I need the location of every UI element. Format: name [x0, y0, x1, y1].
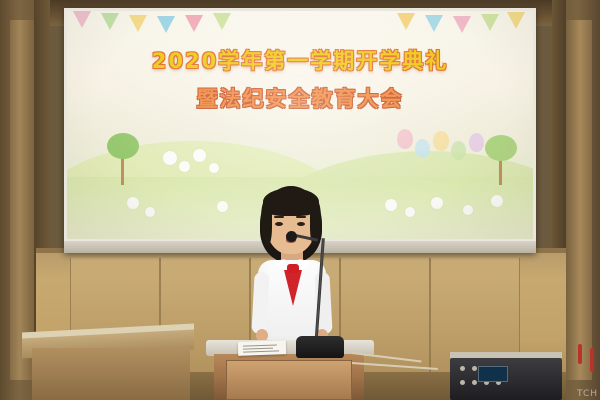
eye-left: [275, 222, 283, 226]
eyebrow-right: [296, 216, 306, 218]
decor-balloon: [469, 133, 484, 152]
decor-flower: [127, 197, 139, 209]
decor-flower: [193, 149, 206, 162]
red-cable: [590, 348, 594, 372]
decor-tree-leaves: [485, 135, 517, 161]
wall-panel-left: [10, 20, 34, 380]
side-table-body: [32, 348, 190, 400]
photo-scene: 2020学年第一学期开学典礼 暨法纪安全教育大会: [0, 0, 600, 400]
decor-flower: [217, 201, 228, 212]
decor-balloon: [433, 131, 449, 151]
screen-title-line-2: 暨法纪安全教育大会: [67, 83, 533, 113]
red-cable: [578, 344, 582, 364]
decor-flower: [163, 151, 177, 165]
decor-flower: [405, 207, 415, 217]
red-scarf: [284, 270, 302, 306]
podium-front-panel: [226, 360, 352, 400]
decor-flower: [385, 199, 397, 211]
microphone-base: [296, 336, 344, 358]
decor-balloon: [415, 139, 430, 158]
decor-tree-leaves: [107, 133, 139, 159]
speech-notes: [238, 340, 286, 356]
decor-flower: [145, 207, 155, 217]
decor-flower: [431, 197, 443, 209]
eyebrow-left: [274, 216, 284, 218]
wall-panel-right: [566, 20, 592, 380]
decor-balloon: [451, 141, 466, 160]
decor-balloon: [397, 129, 413, 149]
decor-flower: [179, 161, 190, 172]
decor-flower: [209, 163, 219, 173]
watermark: TCH: [577, 389, 598, 399]
equipment-display: [478, 366, 508, 382]
eye-right: [297, 222, 305, 226]
scarf-knot: [287, 264, 299, 273]
hair-side-left: [261, 200, 272, 246]
screen-title-line-1: 2020学年第一学期开学典礼: [67, 45, 533, 75]
decor-flower: [491, 195, 503, 207]
decor-flower: [463, 205, 473, 215]
decor-bunting: [67, 11, 533, 41]
microphone-head: [286, 231, 297, 242]
